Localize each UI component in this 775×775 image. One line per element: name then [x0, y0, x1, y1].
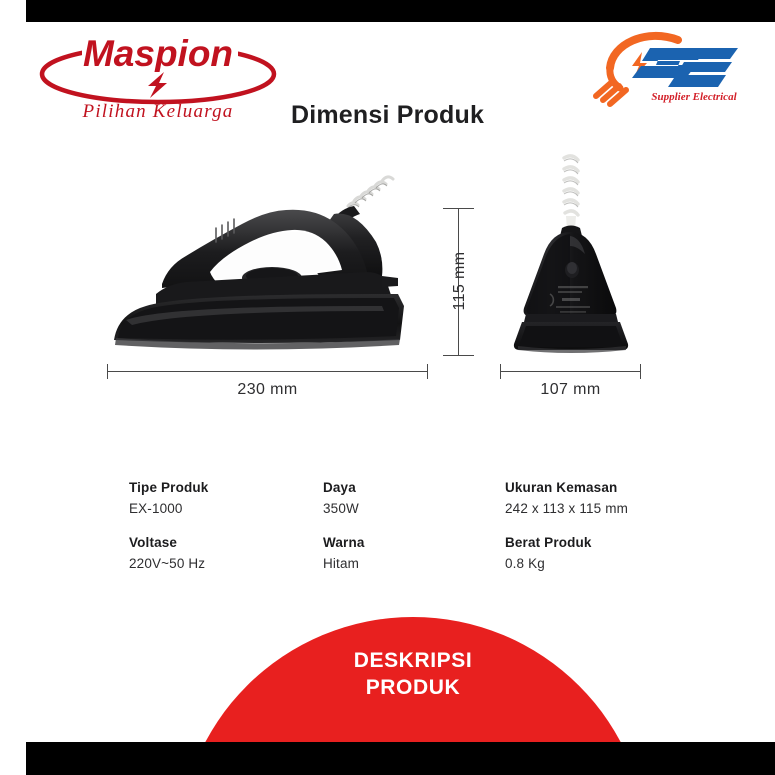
spec-value: Hitam [323, 553, 493, 575]
maspion-wordmark: Maspion [83, 33, 233, 74]
spec-value: EX-1000 [129, 498, 309, 520]
spec-item-ukuran-kemasan: Ukuran Kemasan 242 x 113 x 115 mm [505, 478, 735, 519]
power-cord-coil-rear-icon [564, 156, 578, 215]
banner-line-1: DESKRIPSI [178, 648, 648, 675]
dimension-width-label: 230 mm [107, 381, 428, 399]
specifications-table: Tipe Produk EX-1000 Voltase 220V~50 Hz D… [0, 478, 775, 588]
bottom-black-bar [26, 742, 775, 775]
product-photo-side-view [96, 168, 436, 358]
dimension-depth-label: 107 mm [500, 381, 641, 399]
spec-item-warna: Warna Hitam [323, 533, 493, 574]
product-photo-rear-view [500, 146, 642, 358]
banner-text: DESKRIPSI PRODUK [178, 648, 648, 702]
product-spec-page: Maspion Pilihan Keluarga [0, 0, 775, 775]
spec-label: Warna [323, 533, 493, 553]
specs-column-3: Ukuran Kemasan 242 x 113 x 115 mm Berat … [505, 478, 735, 588]
spec-label: Voltase [129, 533, 309, 553]
spec-item-tipe-produk: Tipe Produk EX-1000 [129, 478, 309, 519]
spec-item-daya: Daya 350W [323, 478, 493, 519]
spec-label: Ukuran Kemasan [505, 478, 735, 498]
rear-heel-step [524, 314, 618, 322]
banner-line-2: PRODUK [178, 675, 648, 702]
top-black-bar [26, 0, 775, 22]
spec-value: 350W [323, 498, 493, 520]
spec-value: 220V~50 Hz [129, 553, 309, 575]
cord-strain-relief [382, 276, 398, 287]
deskripsi-produk-banner: DESKRIPSI PRODUK [26, 600, 775, 742]
spec-value: 242 x 113 x 115 mm [505, 498, 735, 520]
spec-label: Daya [323, 478, 493, 498]
spec-label: Berat Produk [505, 533, 735, 553]
spec-item-berat-produk: Berat Produk 0.8 Kg [505, 533, 735, 574]
page-title: Dimensi Produk [0, 101, 775, 130]
specs-column-1: Tipe Produk EX-1000 Voltase 220V~50 Hz [129, 478, 309, 588]
spec-item-voltase: Voltase 220V~50 Hz [129, 533, 309, 574]
supplier-electrical-logo: Supplier Electrical [586, 26, 746, 112]
specs-column-2: Daya 350W Warna Hitam [323, 478, 493, 588]
dimension-height-label: 115 mm [451, 236, 469, 326]
spec-value: 0.8 Kg [505, 553, 735, 575]
spec-label: Tipe Produk [129, 478, 309, 498]
